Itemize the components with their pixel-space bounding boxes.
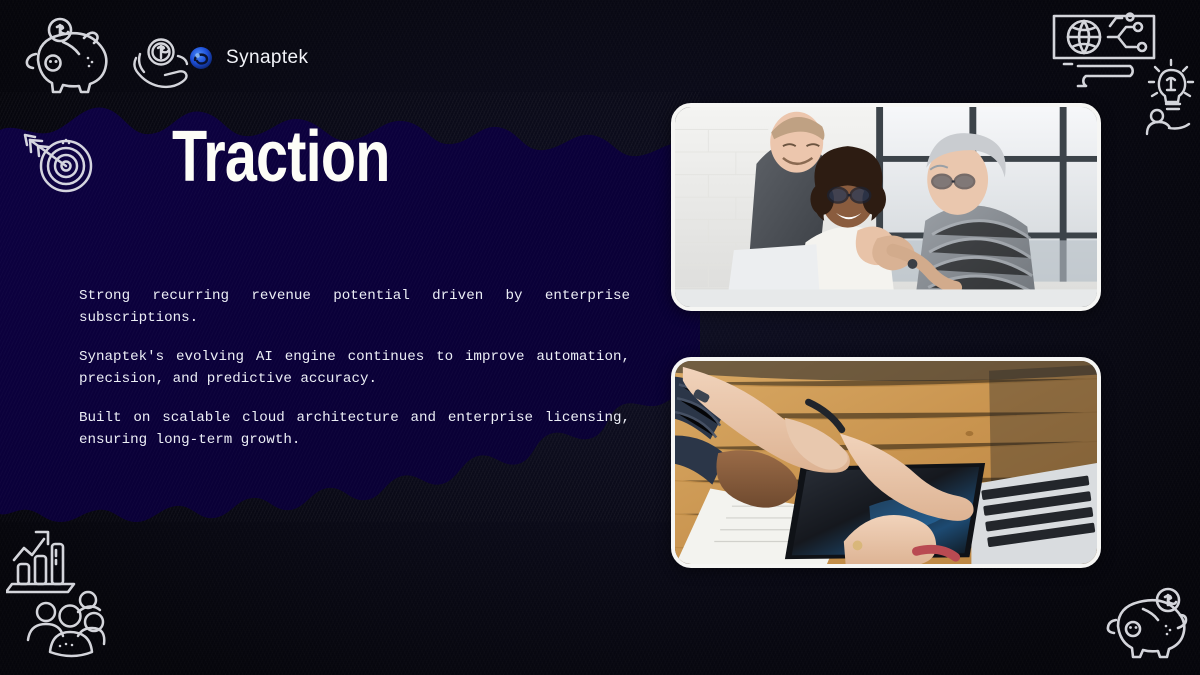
target-dartboard-arrow-icon (16, 126, 102, 202)
piggy-bank-icon (22, 16, 114, 94)
photo-team-celebration (671, 103, 1101, 311)
piggy-bank-icon (1106, 586, 1194, 660)
brand-name-label: Synaptek (226, 47, 308, 69)
page-title: Traction (172, 124, 390, 190)
body-paragraph-2: Synaptek's evolving AI engine continues … (79, 347, 630, 390)
slide-canvas: Synaptek Traction Strong recurring reven… (0, 0, 1200, 675)
synaptek-swirl-logo-icon (186, 43, 216, 73)
lightbulb-idea-person-icon (1139, 58, 1199, 136)
body-paragraph-1: Strong recurring revenue potential drive… (79, 286, 630, 329)
people-group-icon (24, 588, 116, 660)
body-paragraph-3: Built on scalable cloud architecture and… (79, 408, 630, 451)
hand-holding-coin-icon (128, 32, 190, 92)
growth-bar-chart-arrow-icon (6, 520, 84, 598)
photo-tablet-collaboration (671, 357, 1101, 568)
brand-logo-group: Synaptek (186, 43, 308, 73)
body-copy-block: Strong recurring revenue potential drive… (79, 286, 630, 451)
